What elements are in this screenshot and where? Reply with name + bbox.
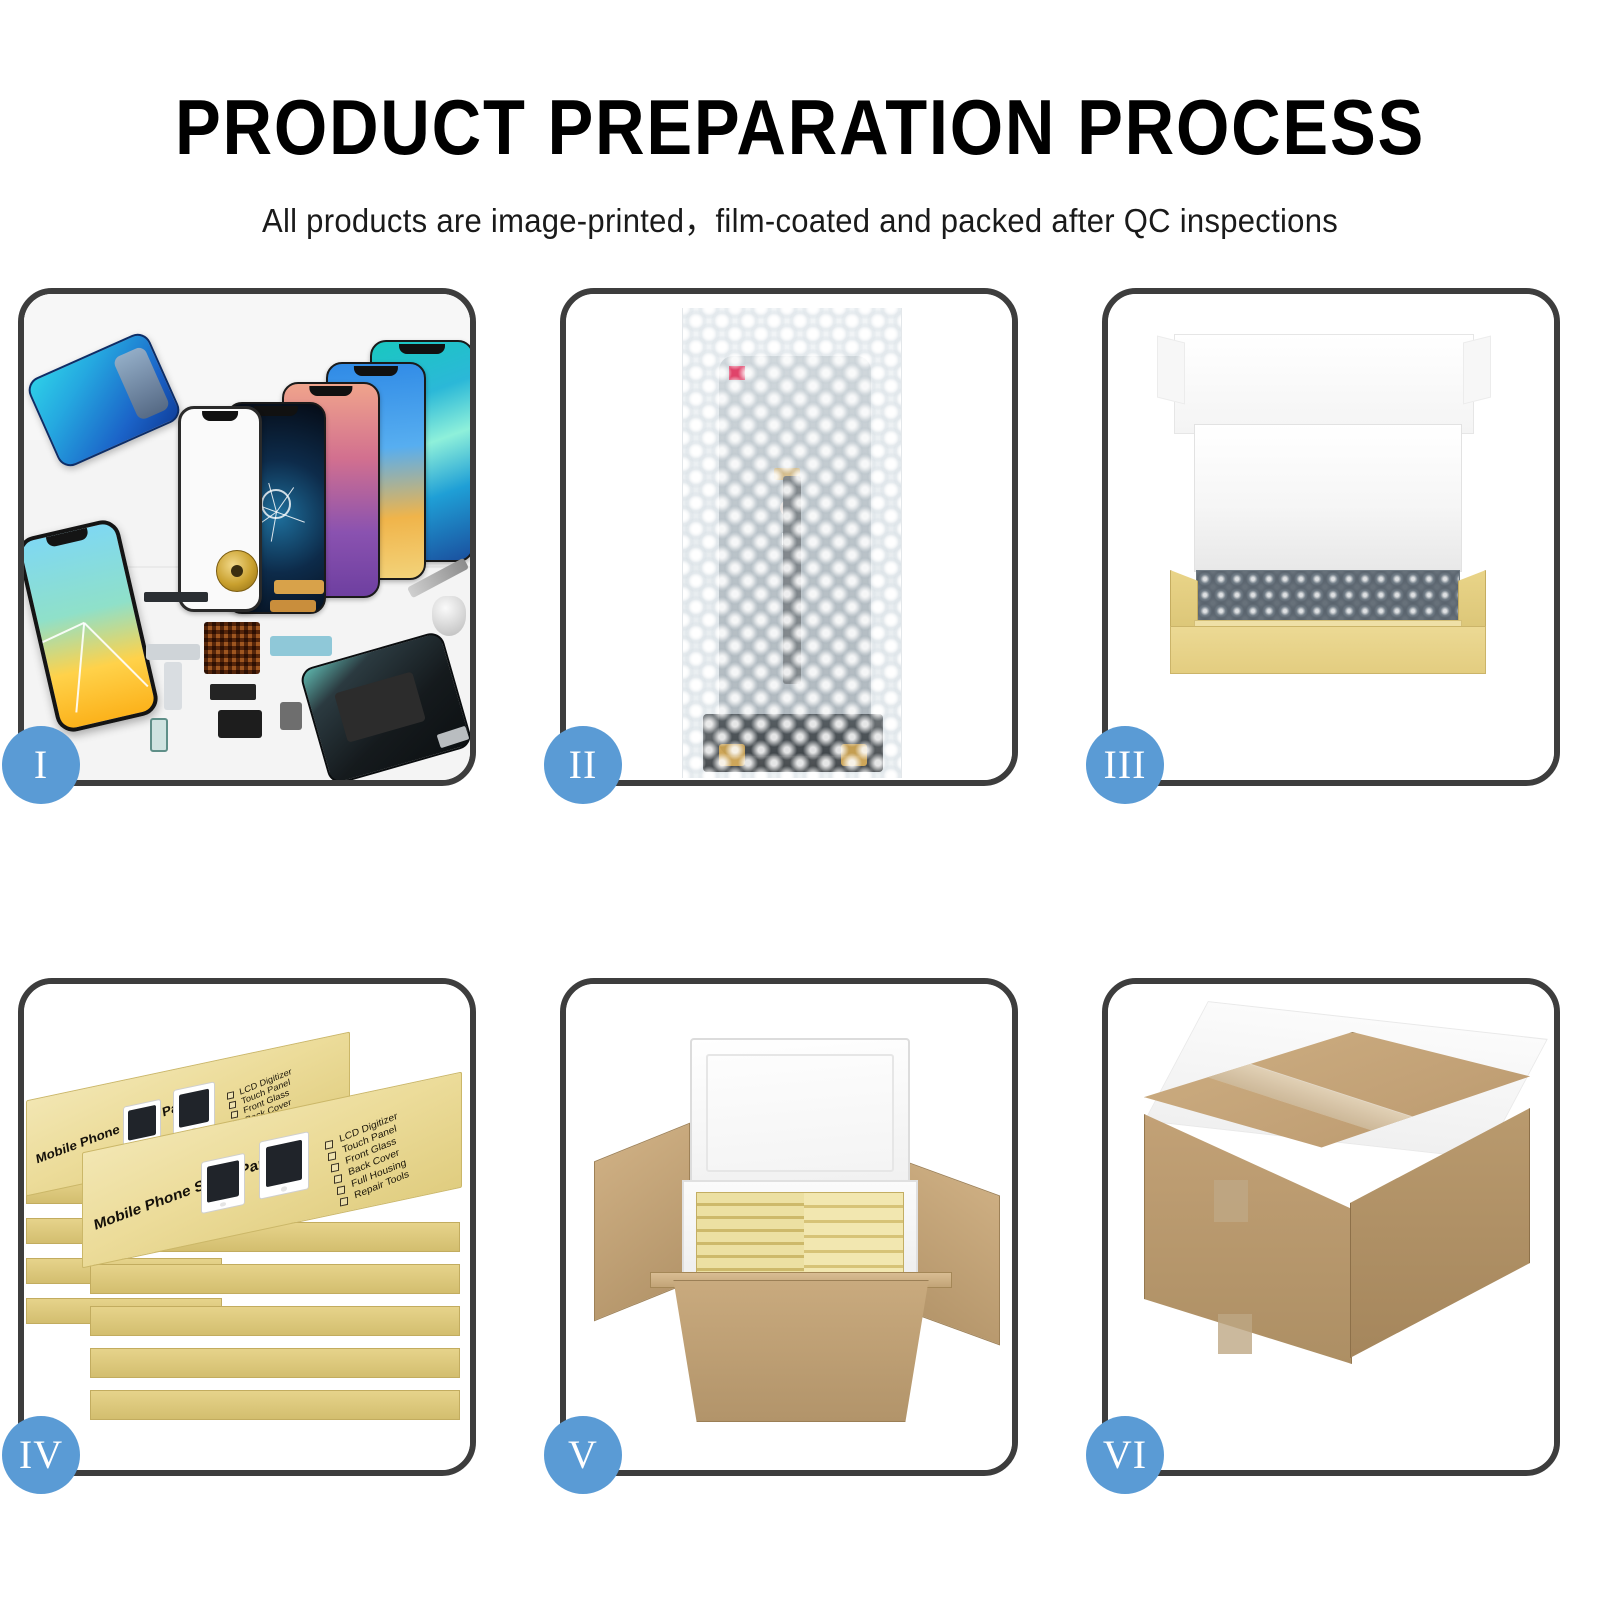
page-subtitle: All products are image-printed，film-coat…	[48, 194, 1552, 242]
camera-module	[218, 710, 262, 738]
step-card-1[interactable]: I	[18, 288, 476, 786]
step-badge-4: IV	[2, 1416, 80, 1494]
small-connector	[210, 684, 256, 700]
step-2-image	[566, 294, 1012, 780]
foam-sheet	[1194, 424, 1462, 572]
lcd-flex-connectors	[703, 714, 883, 772]
process-grid: I II	[18, 288, 1582, 1478]
step-1-image	[24, 294, 470, 780]
earpiece-mesh	[144, 592, 208, 602]
bubble-wrap-sleeve	[682, 308, 902, 778]
step-card-3[interactable]: III	[1102, 288, 1560, 786]
step-card-5[interactable]: V	[560, 978, 1018, 1476]
flex-cable-gold-1	[274, 580, 324, 594]
loudspeaker	[280, 702, 302, 730]
foam-lid	[690, 1038, 910, 1188]
header: PRODUCT PREPARATION PROCESS All products…	[0, 0, 1600, 242]
retail-box-stack: Mobile Phone Spare Parts LCD Digitizer T…	[26, 1026, 470, 1446]
box-lid-flap	[1174, 334, 1474, 434]
step-badge-5: V	[544, 1416, 622, 1494]
gold-boxes-rows	[696, 1192, 904, 1276]
phone-screen-cracked-yellow	[24, 517, 161, 735]
step-card-6[interactable]: VI	[1102, 978, 1560, 1476]
sim-tray	[150, 718, 168, 752]
red-qc-sticker	[729, 366, 745, 380]
flex-cable-grey	[146, 644, 200, 660]
carton-tape-tab-bottom	[1218, 1314, 1252, 1354]
lcd-assembly	[719, 356, 871, 756]
step-badge-1: I	[2, 726, 80, 804]
page-title: PRODUCT PREPARATION PROCESS	[96, 88, 1504, 166]
step-5-image	[566, 984, 1012, 1470]
flex-cable-gold-2	[270, 600, 316, 612]
step-4-image: Mobile Phone Spare Parts LCD Digitizer T…	[24, 984, 470, 1470]
sealed-carton	[1122, 1032, 1542, 1412]
power-button-flex	[164, 662, 182, 710]
carton-tape-tab-top	[1214, 1180, 1248, 1222]
process-row-1: I II	[18, 288, 1582, 788]
process-row-2: Mobile Phone Spare Parts LCD Digitizer T…	[18, 978, 1582, 1478]
spare-parts-group	[144, 544, 470, 774]
wireless-charging-coil	[216, 550, 258, 592]
yellow-inner-box	[1170, 570, 1486, 674]
infographic-page: PRODUCT PREPARATION PROCESS All products…	[0, 0, 1600, 1600]
retail-box-brand-front: Mobile Phone Spare Parts	[93, 1150, 278, 1234]
step-badge-3: III	[1086, 726, 1164, 804]
step-6-image	[1108, 984, 1554, 1470]
step-card-2[interactable]: II	[560, 288, 1018, 786]
ic-chip	[204, 622, 260, 674]
flex-cable-blue	[270, 636, 332, 656]
carton-right-face	[1350, 1108, 1530, 1358]
step-badge-2: II	[544, 726, 622, 804]
step-badge-6: VI	[1086, 1416, 1164, 1494]
open-carton-group	[584, 1024, 1004, 1444]
carton-front-wall	[656, 1280, 946, 1422]
retail-box-checklist-front: LCD Digitizer Touch Panel Front Glass Ba…	[323, 1086, 462, 1200]
cleaning-brush	[432, 596, 466, 636]
repair-tweezers	[407, 558, 469, 599]
step-3-image	[1108, 294, 1554, 780]
step-card-4[interactable]: Mobile Phone Spare Parts LCD Digitizer T…	[18, 978, 476, 1476]
